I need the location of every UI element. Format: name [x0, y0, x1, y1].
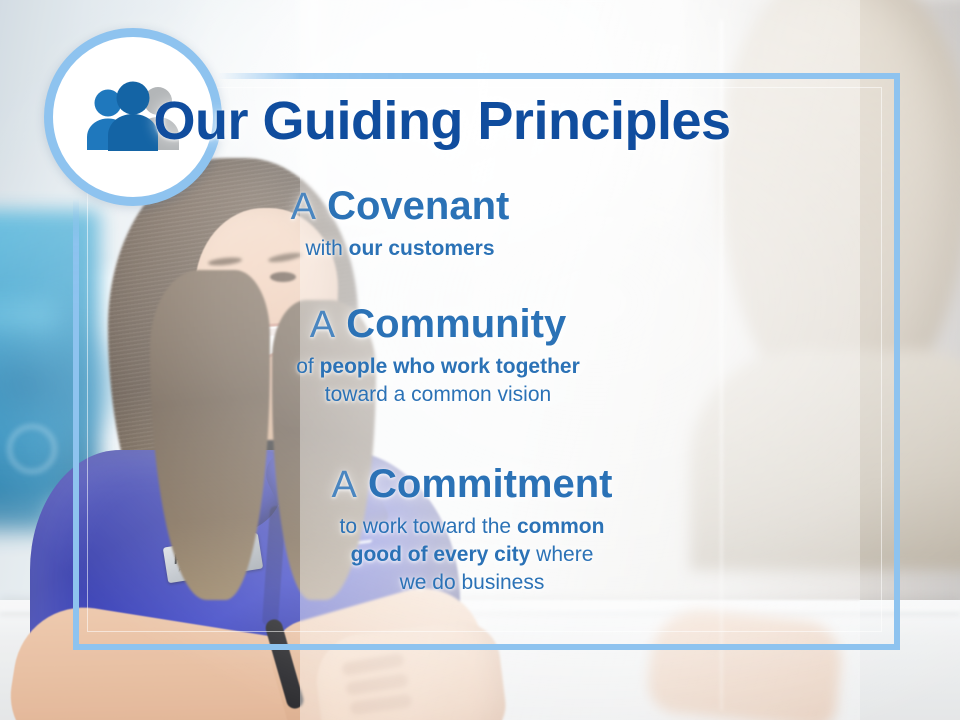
principle-article: A	[310, 304, 335, 346]
principle-item: A Covenant with our customers	[0, 185, 850, 263]
principle-item: A Community of people who work togethert…	[0, 303, 888, 409]
principle-subtext: with our customers	[0, 235, 850, 263]
principle-subtext: to work toward the commongood of every c…	[22, 513, 922, 596]
principle-word: Commitment	[368, 462, 612, 506]
subtext-run: where	[530, 543, 593, 566]
principle-heading: A Covenant	[0, 185, 850, 228]
subtext-run: to work toward the	[340, 515, 517, 538]
subtext-run: with	[305, 237, 348, 260]
principle-heading: A Commitment	[22, 463, 922, 506]
principle-subtext: of people who work togethertoward a comm…	[0, 353, 888, 408]
principle-item: A Commitment to work toward the commongo…	[22, 463, 922, 596]
subtext-emphasis: common	[517, 515, 605, 538]
employee-eye	[270, 272, 296, 282]
principle-word: Community	[346, 302, 566, 346]
subtext-run: of	[296, 355, 319, 378]
principle-article: A	[332, 464, 357, 506]
subtext-run: toward a common vision	[325, 383, 551, 406]
principle-article: A	[291, 186, 316, 228]
subtext-emphasis: good of every city	[351, 543, 531, 566]
principle-word: Covenant	[327, 184, 509, 228]
subtext-run: we do business	[400, 571, 545, 594]
guiding-principles-poster: FLOW FLOW AUTOMOTIVE	[0, 0, 960, 720]
subtext-emphasis: people who work together	[320, 355, 580, 378]
principle-heading: A Community	[0, 303, 888, 346]
subtext-emphasis: our customers	[349, 237, 495, 260]
page-title: Our Guiding Principles	[0, 94, 884, 148]
